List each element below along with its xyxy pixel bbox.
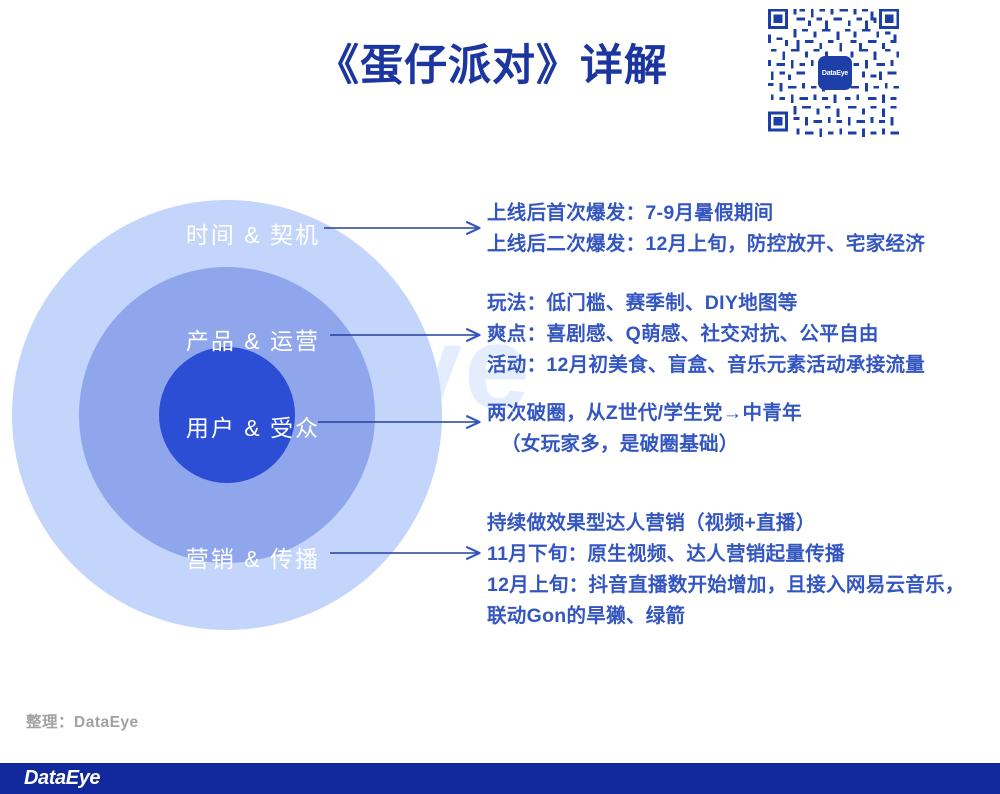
- text-block-product: 玩法：低门槛、赛季制、DIY地图等 爽点：喜剧感、Q萌感、社交对抗、公平自由 活…: [487, 288, 925, 381]
- text-line: 玩法：低门槛、赛季制、DIY地图等: [487, 288, 925, 319]
- text-line: 联动Gon的旱獭、绿箭: [487, 601, 965, 632]
- ring-label-marketing: 营销 & 传播: [100, 540, 320, 574]
- ring-label-users: 用户 & 受众: [100, 409, 320, 443]
- text-line: 12月上旬：抖音直播数开始增加，且接入网易云音乐，: [487, 570, 965, 601]
- bottom-bar: DataEye: [0, 763, 1000, 794]
- text-block-time: 上线后首次爆发：7-9月暑假期间 上线后二次爆发：12月上旬，防控放开、宅家经济: [487, 198, 925, 260]
- slide-canvas: 《蛋仔派对》详解: [0, 0, 1000, 794]
- text-line: 活动：12月初美食、盲盒、音乐元素活动承接流量: [487, 350, 925, 381]
- text-line: 上线后二次爆发：12月上旬，防控放开、宅家经济: [487, 229, 925, 260]
- ring-label-time: 时间 & 契机: [100, 216, 320, 250]
- text-line: 11月下旬：原生视频、达人营销起量传播: [487, 539, 965, 570]
- ring-label-product: 产品 & 运营: [100, 322, 320, 356]
- text-block-users: 两次破圈，从Z世代/学生党→中青年 （女玩家多，是破圈基础）: [487, 398, 802, 460]
- text-line: 持续做效果型达人营销（视频+直播）: [487, 508, 965, 539]
- dataeye-logo: DataEye: [24, 767, 100, 790]
- qr-code[interactable]: DataEye: [765, 6, 905, 140]
- text-line: 两次破圈，从Z世代/学生党→中青年: [487, 398, 802, 429]
- text-line: （女玩家多，是破圈基础）: [487, 429, 802, 460]
- credit-label: 整理：DataEye: [26, 710, 139, 732]
- text-line: 爽点：喜剧感、Q萌感、社交对抗、公平自由: [487, 319, 925, 350]
- qr-logo: DataEye: [818, 56, 852, 90]
- text-line: 上线后首次爆发：7-9月暑假期间: [487, 198, 925, 229]
- text-block-marketing: 持续做效果型达人营销（视频+直播） 11月下旬：原生视频、达人营销起量传播 12…: [487, 508, 965, 632]
